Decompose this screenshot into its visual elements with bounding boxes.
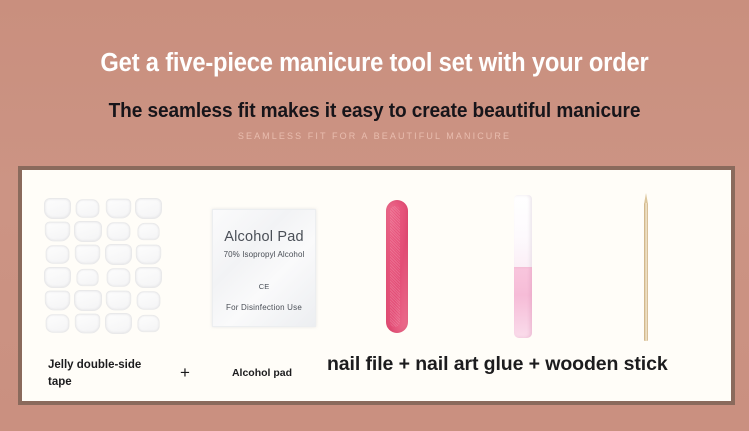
adhesive-tab [136, 245, 162, 265]
nail-glue-cap [514, 195, 532, 270]
adhesive-tab [105, 313, 132, 334]
adhesive-tab [137, 315, 159, 332]
nail-file-body [386, 200, 408, 333]
alcohol-pad-packet-title: Alcohol Pad [213, 229, 315, 245]
adhesive-tab [136, 291, 160, 309]
adhesive-tab [75, 245, 101, 265]
adhesive-tab-grid [42, 196, 164, 336]
subtitle: The seamless fit makes it easy to create… [26, 100, 723, 123]
adhesive-tab [105, 199, 131, 219]
adhesive-tab [105, 244, 132, 265]
alcohol-pad-image: Alcohol Pad 70% Isopropyl Alcohol CE For… [212, 209, 316, 327]
nail-art-glue-image [512, 195, 534, 338]
adhesive-tab [46, 314, 70, 332]
adhesive-tab [106, 222, 130, 240]
wooden-stick-image [639, 193, 653, 341]
product-card-inner: Alcohol Pad 70% Isopropyl Alcohol CE For… [22, 170, 731, 401]
adhesive-tab [77, 269, 99, 286]
tagline: SEAMLESS FIT FOR A BEAUTIFUL MANICURE [0, 131, 749, 141]
caption-alcohol-pad: Alcohol pad [214, 367, 310, 379]
alcohol-pad-packet-subtitle: 70% Isopropyl Alcohol [213, 250, 315, 259]
adhesive-tab [76, 199, 100, 217]
adhesive-tab [46, 245, 70, 263]
nail-glue-body [514, 267, 532, 338]
adhesive-tab [45, 291, 71, 311]
adhesive-tab [106, 268, 130, 286]
adhesive-tab [137, 223, 159, 240]
adhesive-tab [45, 222, 71, 242]
adhesive-tab [44, 267, 71, 288]
adhesive-tab [44, 198, 71, 219]
ce-mark-icon: CE [213, 282, 315, 291]
alcohol-pad-packet-footer: For Disinfection Use [213, 303, 315, 312]
caption-plus-separator: + [172, 363, 198, 383]
product-showcase-card: Alcohol Pad 70% Isopropyl Alcohol CE For… [18, 166, 735, 405]
adhesive-tab [74, 221, 101, 242]
adhesive-tab [74, 290, 101, 311]
adhesive-tab [135, 198, 162, 219]
product-caption-row: Jelly double-side tape + Alcohol pad nai… [22, 350, 731, 405]
jelly-double-side-tape-image [42, 196, 164, 336]
promo-banner: Get a five-piece manicure tool set with … [0, 0, 749, 431]
wooden-stick-body [644, 203, 648, 341]
adhesive-tab [105, 291, 131, 311]
caption-jelly-double-side-tape: Jelly double-side tape [48, 357, 168, 390]
caption-combined-tools: nail file + nail art glue + wooden stick [327, 353, 727, 376]
adhesive-tab [135, 267, 162, 288]
page-title: Get a five-piece manicure tool set with … [26, 49, 723, 77]
nail-file-image [383, 200, 411, 333]
adhesive-tab [75, 314, 101, 334]
